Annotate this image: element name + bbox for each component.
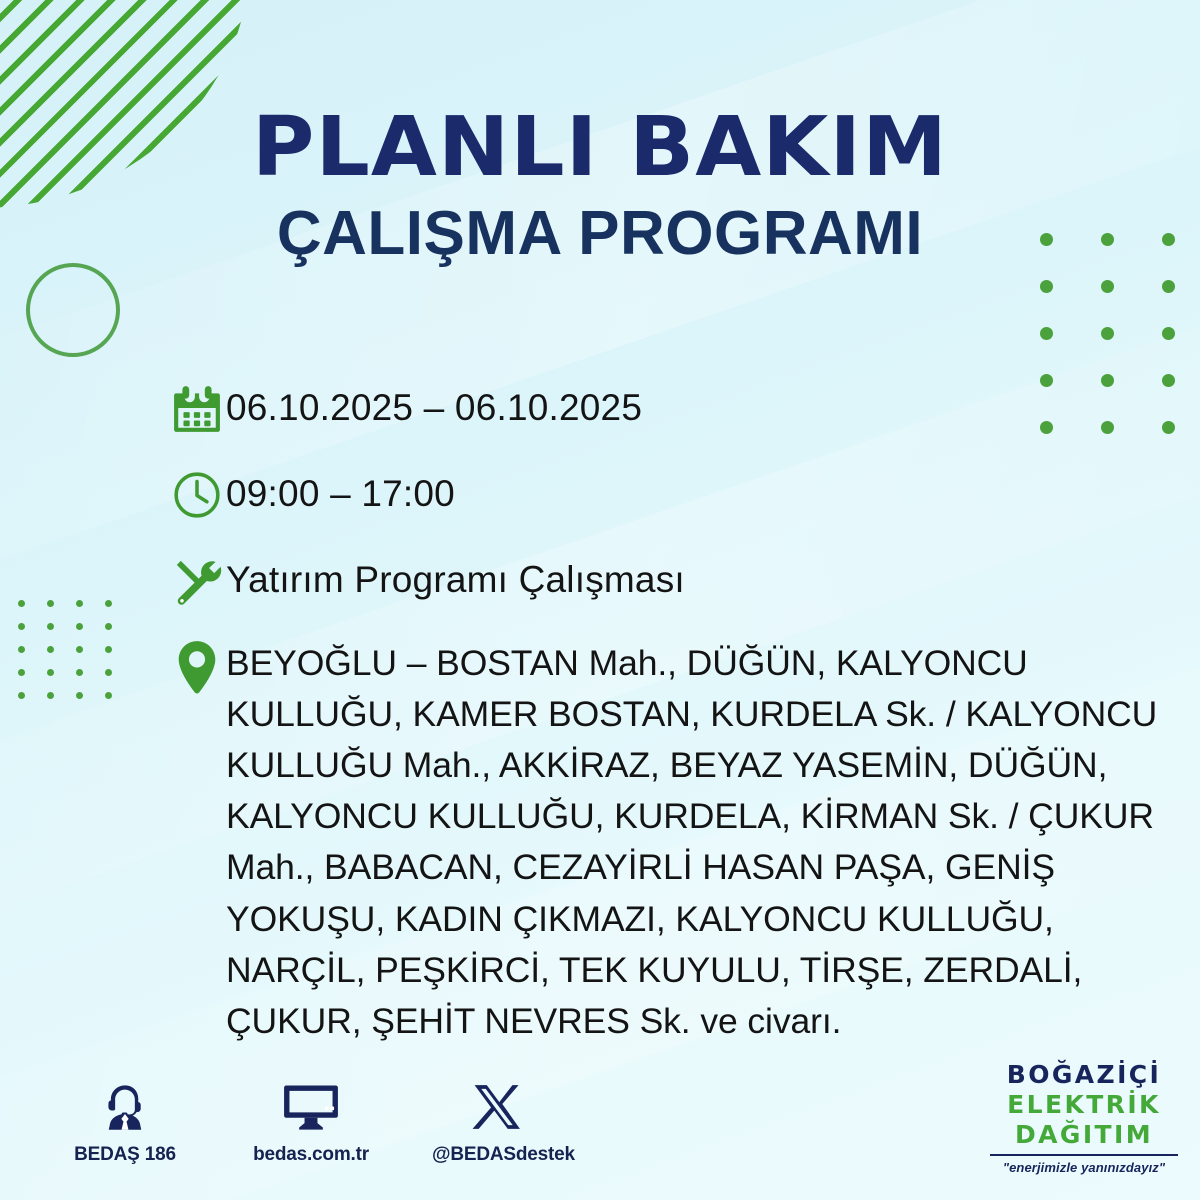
location-line: BEYOĞLU – BOSTAN Mah., DÜĞÜN, KALYONCU [226, 638, 1157, 689]
brand-divider [990, 1154, 1178, 1156]
dot-grid-decoration-left [18, 600, 134, 715]
headset-agent-icon [60, 1078, 190, 1136]
detail-row-date: 06.10.2025 – 06.10.2025 [168, 380, 1188, 438]
maintenance-date-range: 06.10.2025 – 06.10.2025 [226, 380, 642, 430]
detail-row-location: BEYOĞLU – BOSTAN Mah., DÜĞÜN, KALYONCU K… [168, 638, 1188, 1047]
circle-outline-decoration [26, 263, 120, 357]
brand-line-2: ELEKTRİK [986, 1092, 1182, 1117]
location-pin-icon [168, 638, 226, 698]
contact-x-account[interactable]: @BEDASdestek [432, 1078, 562, 1166]
x-twitter-icon [432, 1078, 562, 1136]
maintenance-time-range: 09:00 – 17:00 [226, 466, 455, 516]
brand-tagline: "enerjimizle yanınızdayız" [986, 1161, 1182, 1174]
clock-icon [168, 466, 226, 524]
location-line: NARÇİL, PEŞKİRCİ, TEK KUYULU, TİRŞE, ZER… [226, 945, 1157, 996]
contact-label: BEDAŞ 186 [60, 1144, 190, 1166]
poster-header: PLANLI BAKIM ÇALIŞMA PROGRAMI [0, 108, 1200, 269]
monitor-icon [246, 1078, 376, 1136]
planned-maintenance-poster: PLANLI BAKIM ÇALIŞMA PROGRAMI 06.10.2025… [0, 0, 1200, 1200]
contact-website[interactable]: bedas.com.tr [246, 1078, 376, 1166]
calendar-icon [168, 380, 226, 438]
location-line: KULLUĞU, KAMER BOSTAN, KURDELA Sk. / KAL… [226, 689, 1157, 740]
location-line: KALYONCU KULLUĞU, KURDELA, KİRMAN Sk. / … [226, 791, 1157, 842]
brand-line-3: DAĞITIM [986, 1122, 1182, 1147]
location-line: KULLUĞU Mah., AKKİRAZ, BEYAZ YASEMİN, DÜ… [226, 740, 1157, 791]
maintenance-details: 06.10.2025 – 06.10.2025 09:00 – 17:00 Ya… [168, 380, 1188, 1047]
page-title: PLANLI BAKIM [0, 108, 1200, 188]
bedas-logo: BOĞAZİÇİ ELEKTRİK DAĞITIM "enerjimizle y… [986, 1062, 1182, 1174]
tools-icon [168, 552, 226, 610]
location-line: ÇUKUR, ŞEHİT NEVRES Sk. ve civarı. [226, 996, 1157, 1047]
contact-footer: BEDAŞ 186 bedas.com.tr @BEDASdestek [60, 1078, 562, 1166]
location-line: Mah., BABACAN, CEZAYİRLİ HASAN PAŞA, GEN… [226, 842, 1157, 893]
contact-label: bedas.com.tr [246, 1144, 376, 1166]
location-line: YOKUŞU, KADIN ÇIKMAZI, KALYONCU KULLUĞU, [226, 894, 1157, 945]
maintenance-location-list: BEYOĞLU – BOSTAN Mah., DÜĞÜN, KALYONCU K… [226, 638, 1157, 1047]
contact-label: @BEDASdestek [432, 1144, 562, 1166]
brand-line-1: BOĞAZİÇİ [986, 1062, 1182, 1087]
contact-call-center[interactable]: BEDAŞ 186 [60, 1078, 190, 1166]
page-subtitle: ÇALIŞMA PROGRAMI [0, 200, 1200, 268]
detail-row-time: 09:00 – 17:00 [168, 466, 1188, 524]
detail-row-work-type: Yatırım Programı Çalışması [168, 552, 1188, 610]
maintenance-work-type: Yatırım Programı Çalışması [226, 552, 685, 602]
